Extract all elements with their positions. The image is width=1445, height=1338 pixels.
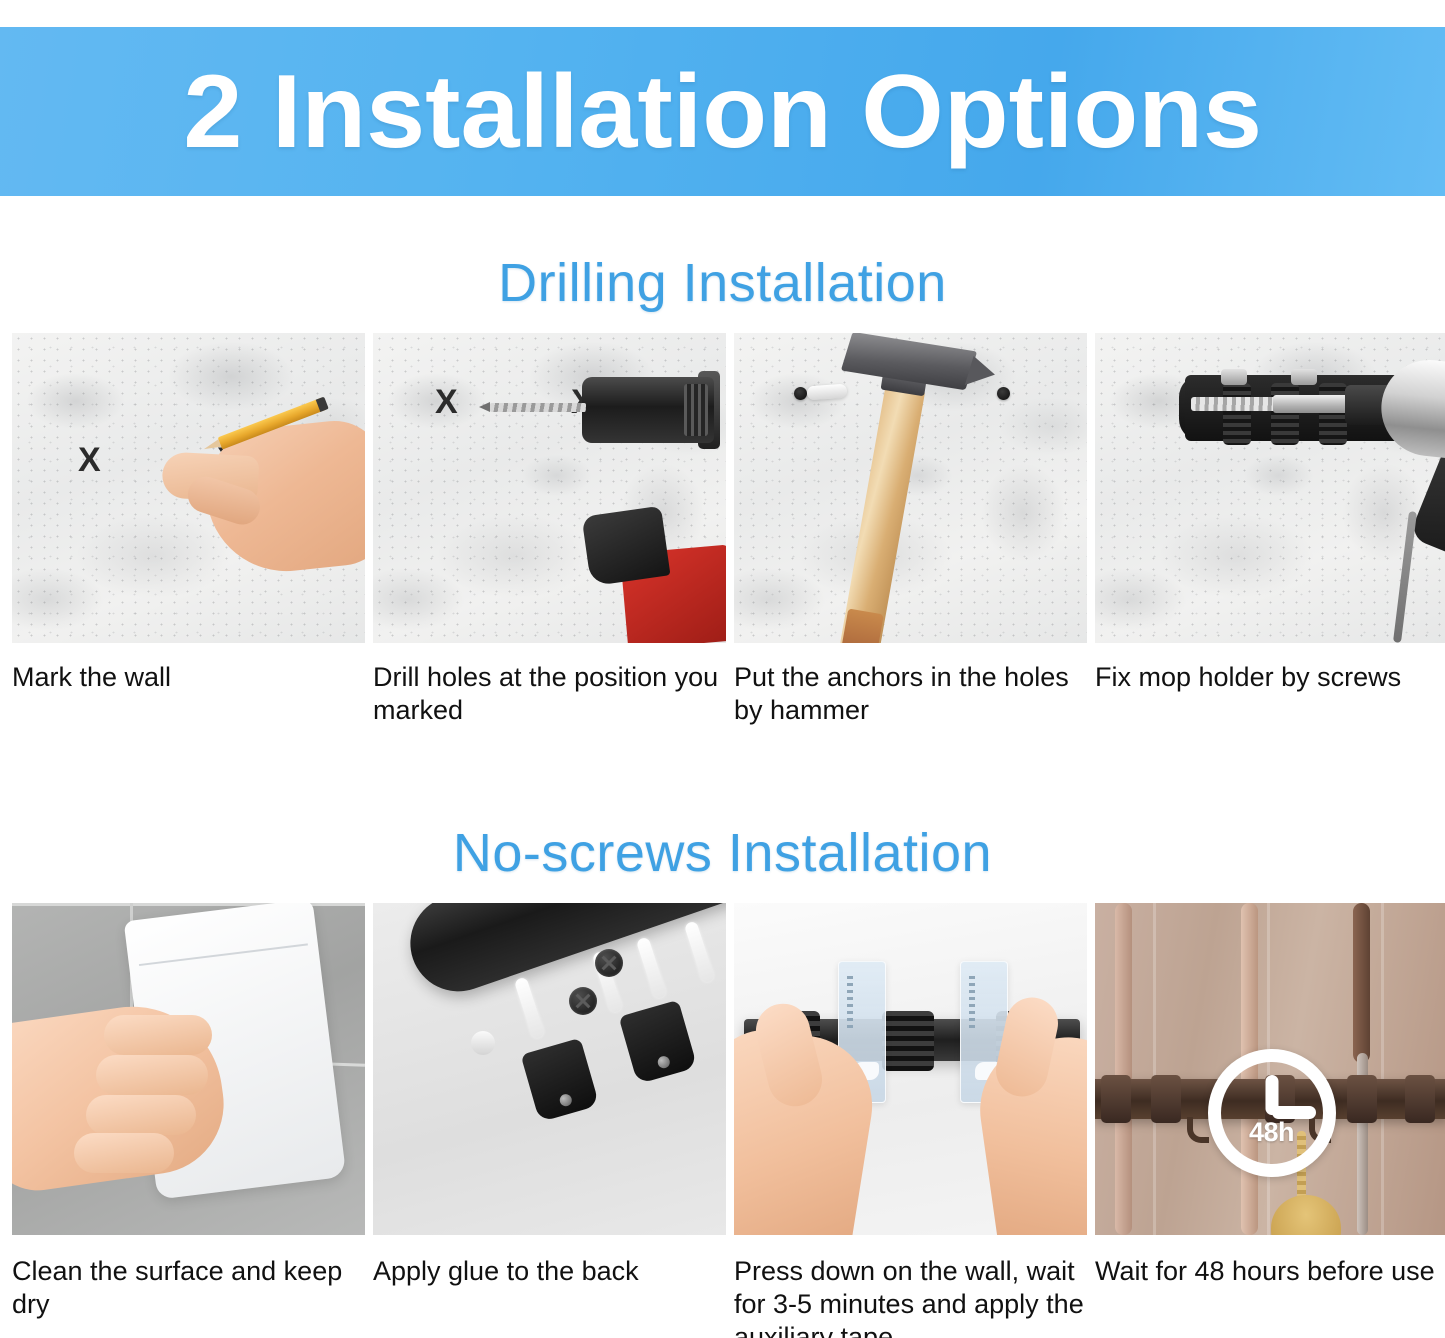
step-caption: Press down on the wall, wait for 3-5 min… bbox=[734, 1255, 1087, 1338]
mount-screw-2 bbox=[1291, 369, 1317, 385]
mounting-hole bbox=[471, 1031, 495, 1055]
infographic-page: 2 Installation Options Drilling Installa… bbox=[0, 0, 1445, 1338]
screw-being-driven bbox=[1191, 397, 1283, 411]
drilling-steps-row: X X Mark the wall X X bbox=[12, 333, 1433, 727]
drill-bit-icon bbox=[490, 403, 586, 412]
step-caption: Put the anchors in the holes by hammer bbox=[734, 661, 1087, 727]
banner-title: 2 Installation Options bbox=[183, 60, 1262, 164]
step-card-clean-surface: Clean the surface and keep dry bbox=[12, 903, 365, 1338]
step-caption: Apply glue to the back bbox=[373, 1255, 726, 1288]
step-caption: Fix mop holder by screws bbox=[1095, 661, 1445, 694]
x-mark-left: X bbox=[435, 385, 458, 419]
photo-glue-strips-on-black-holder-bar bbox=[373, 903, 726, 1235]
step-card-drill-holes: X X Drill holes at the position you mark… bbox=[373, 333, 726, 727]
x-mark-left: X bbox=[78, 443, 101, 477]
step-card-press-on-wall: Press down on the wall, wait for 3-5 min… bbox=[734, 903, 1087, 1338]
finger-3 bbox=[86, 1095, 196, 1135]
broom-handle-1 bbox=[1115, 903, 1132, 1235]
drilled-hole-left bbox=[794, 387, 807, 400]
mop-handle-3-top bbox=[1353, 903, 1370, 1063]
step-caption: Drill holes at the position you marked bbox=[373, 661, 726, 727]
clock-badge-label: 48h bbox=[1249, 1117, 1294, 1148]
wall-anchor bbox=[807, 384, 848, 401]
finger-2 bbox=[96, 1055, 208, 1095]
section-heading-drilling: Drilling Installation bbox=[0, 252, 1445, 314]
step-caption: Wait for 48 hours before use bbox=[1095, 1255, 1445, 1288]
photo-two-hands-pressing-holder-on-wall bbox=[734, 903, 1087, 1235]
screw-head-2 bbox=[595, 949, 623, 977]
photo-hammer-tapping-anchor-into-hole bbox=[734, 333, 1087, 643]
photo-mounted-holder-with-mops-48h-badge: 48h bbox=[1095, 903, 1445, 1235]
holder-clip-4 bbox=[1347, 1075, 1377, 1123]
panel-seam-1 bbox=[1153, 903, 1156, 1235]
holder-clip-3 bbox=[1319, 383, 1347, 445]
section-heading-no-screws: No-screws Installation bbox=[0, 822, 1445, 884]
drilled-hole-right bbox=[997, 387, 1010, 400]
finger-1 bbox=[104, 1015, 212, 1055]
photo-drill-making-hole-in-wall: X X bbox=[373, 333, 726, 643]
step-card-mark-wall: X X Mark the wall bbox=[12, 333, 365, 727]
mount-screw-1 bbox=[1221, 369, 1247, 385]
holder-clip-1 bbox=[1223, 383, 1251, 445]
holder-clip-2 bbox=[1151, 1075, 1181, 1123]
step-card-put-anchors: Put the anchors in the holes by hammer bbox=[734, 333, 1087, 727]
holder-clip-2 bbox=[1271, 383, 1299, 445]
photo-hand-wiping-tile-with-towel bbox=[12, 903, 365, 1235]
header-banner: 2 Installation Options bbox=[0, 27, 1445, 196]
photo-electric-screwdriver-fixing-holder: SWITCHDRIVER bbox=[1095, 333, 1445, 643]
holder-clip-1 bbox=[1101, 1075, 1131, 1123]
step-card-fix-by-screws: SWITCHDRIVER Fix mop holder by screws bbox=[1095, 333, 1445, 727]
drill-motor-housing bbox=[582, 506, 671, 586]
step-card-wait-48-hours: 48h Wait for 48 hours before use bbox=[1095, 903, 1445, 1338]
photo-wall-with-x-marks-and-pencil: X X bbox=[12, 333, 365, 643]
mop-grip-clamp-2 bbox=[882, 1011, 934, 1071]
drill-chuck bbox=[582, 377, 714, 443]
finger-4 bbox=[74, 1133, 174, 1173]
panel-seam-3 bbox=[1381, 903, 1384, 1235]
holder-clip-5 bbox=[1405, 1075, 1435, 1123]
step-caption: Mark the wall bbox=[12, 661, 365, 694]
screw-head-1 bbox=[569, 987, 597, 1015]
clock-icon: 48h bbox=[1208, 1049, 1336, 1177]
step-caption: Clean the surface and keep dry bbox=[12, 1255, 365, 1321]
step-card-apply-glue: Apply glue to the back bbox=[373, 903, 726, 1338]
no-screws-steps-row: Clean the surface and keep dry Apply glu… bbox=[12, 903, 1433, 1338]
